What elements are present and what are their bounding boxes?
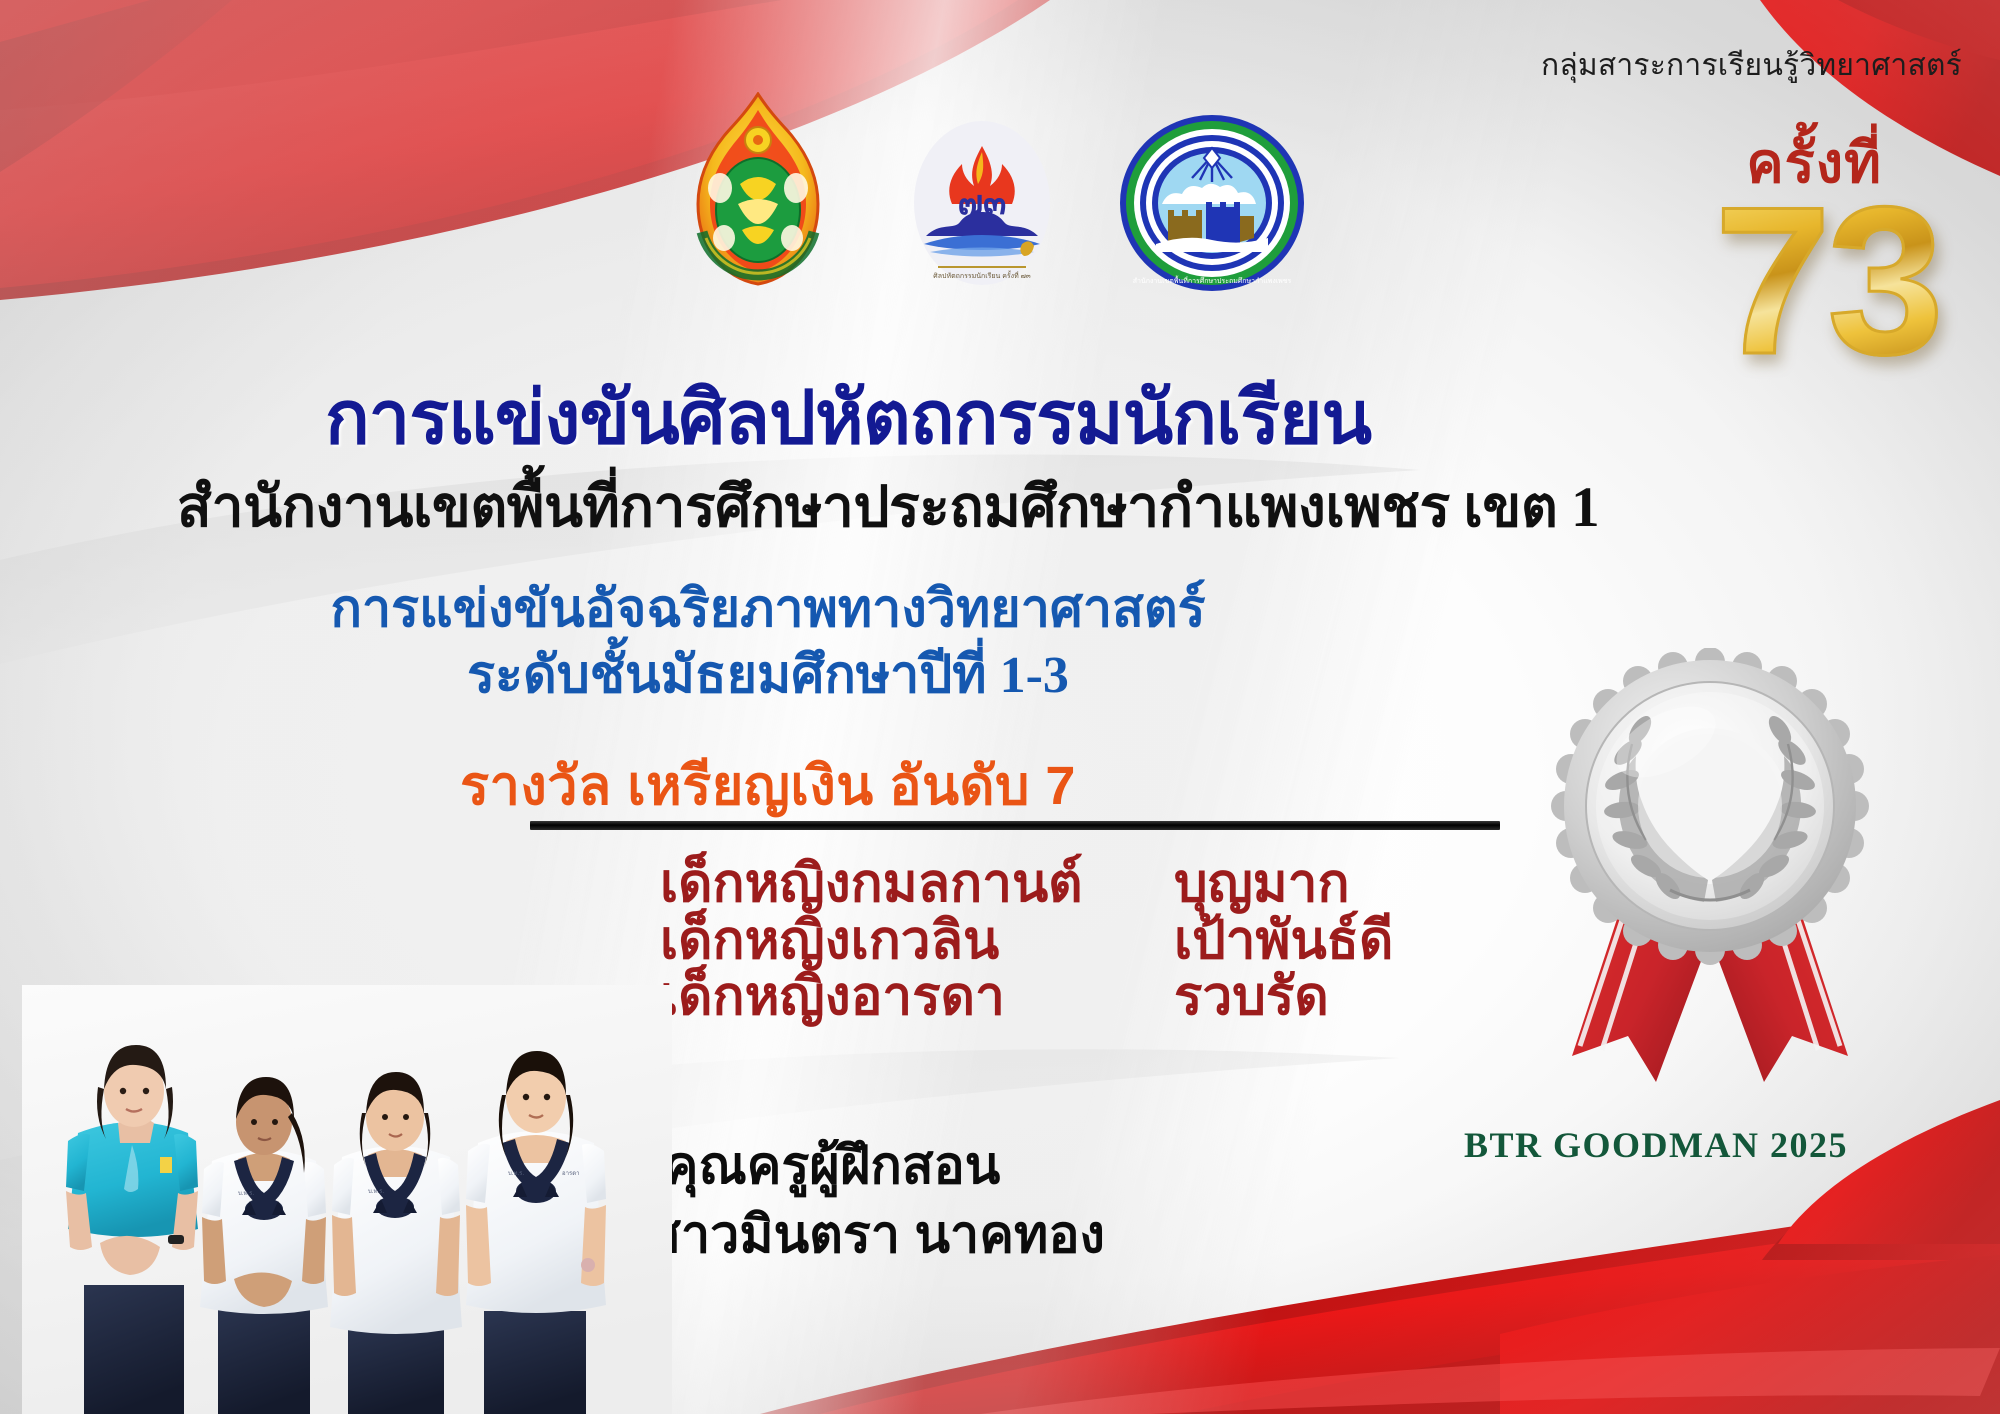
participant-surname: บุญมาก <box>1174 856 1393 913</box>
svg-text:บ.ท.ร.: บ.ท.ร. <box>238 1190 254 1197</box>
office-subtitle: สำนักงานเขตพื้นที่การศึกษาประถมศึกษากำแพ… <box>177 462 1599 552</box>
event-level: ระดับชั้นมัธยมศึกษาปีที่ 1-3 <box>467 632 1069 715</box>
team-photo: บ.ท.ร. บ.ท.ร. <box>22 985 672 1414</box>
certificate-canvas: กลุ่มสาระการเรียนรู้วิทยาศาสตร์ ครั้งที่… <box>0 0 2000 1414</box>
svg-text:บ.ท.ร.: บ.ท.ร. <box>368 1188 384 1195</box>
divider <box>530 821 1500 830</box>
svg-text:อารดา: อารดา <box>562 1170 579 1177</box>
silver-medal-icon <box>1510 648 1910 1098</box>
page-title: การแข่งขันศิลปหัตถกรรมนักเรียน <box>325 358 1371 476</box>
kamphaengphet-area-seal-icon: สำนักงานเขตพื้นที่การศึกษาประถมศึกษากำแพ… <box>1114 112 1310 294</box>
participant-surname: รวบรัด <box>1174 969 1393 1026</box>
participant-list: เด็กหญิงกมลกานต์ บุญมาก เด็กหญิงเกวลิน เ… <box>660 856 1393 1026</box>
studio-credit: BTR GOODMAN 2025 <box>1464 1124 1848 1166</box>
issue-number: 73 <box>1714 160 1940 402</box>
subject-group-label: กลุ่มสาระการเรียนรู้วิทยาศาสตร์ <box>1541 42 1962 89</box>
obec-emblem-icon <box>672 92 844 288</box>
participant-surname: เป้าพันธ์ดี <box>1174 913 1393 970</box>
festival-73-emblem-icon: ๗๓ ศิลปหัตถกรรมนักเรียน ครั้งที่ ๗๓ <box>898 118 1066 288</box>
svg-text:บ.ท.ร.: บ.ท.ร. <box>508 1170 524 1177</box>
participant-given-name: เด็กหญิงกมลกานต์ <box>660 856 1160 913</box>
participant-given-name: เด็กหญิงอารดา <box>660 969 1160 1026</box>
award-result: รางวัล เหรียญเงิน อันดับ 7 <box>460 742 1076 828</box>
participant-given-name: เด็กหญิงเกวลิน <box>660 913 1160 970</box>
